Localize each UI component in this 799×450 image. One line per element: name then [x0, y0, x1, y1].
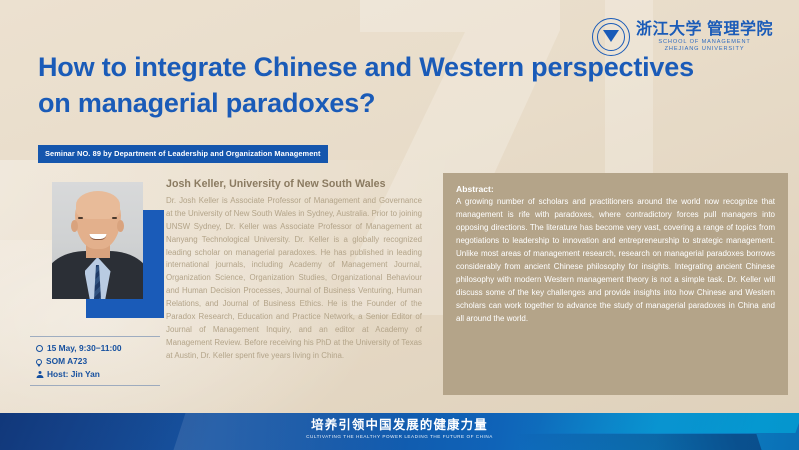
footer-slogan-english: CULTIVATING THE HEALTHY POWER LEADING TH… — [0, 434, 799, 439]
event-details: 15 May, 9:30−11:00 SOM A723 Host: Jin Ya… — [30, 336, 160, 386]
abstract-panel: Abstract: A growing number of scholars a… — [443, 173, 788, 395]
location-pin-icon — [36, 359, 42, 365]
detail-row-location: SOM A723 — [36, 355, 160, 368]
seminar-poster: 浙江大学 管理学院 SCHOOL OF MANAGEMENT ZHEJIANG … — [0, 0, 799, 450]
footer-slogan-chinese: 培养引领中国发展的健康力量 — [0, 418, 799, 432]
divider-bottom — [30, 385, 160, 386]
abstract-heading: Abstract: — [456, 184, 775, 194]
logo-english-school: SCHOOL OF MANAGEMENT — [636, 40, 773, 46]
seminar-badge: Seminar NO. 89 by Department of Leadersh… — [38, 145, 328, 163]
speaker-bio-text: Dr. Josh Keller is Associate Professor o… — [166, 195, 422, 362]
speaker-portrait — [52, 182, 148, 307]
speaker-photo — [52, 182, 143, 299]
seal-bird-icon — [603, 30, 619, 42]
abstract-body: A growing number of scholars and practit… — [456, 196, 775, 326]
detail-row-host: Host: Jin Yan — [36, 368, 160, 381]
detail-datetime-text: 15 May, 9:30−11:00 — [47, 342, 122, 355]
portrait-scalp — [76, 191, 120, 219]
footer-bar: 培养引领中国发展的健康力量 CULTIVATING THE HEALTHY PO… — [0, 413, 799, 450]
clock-icon — [36, 345, 43, 352]
portrait-ear-left — [71, 220, 78, 232]
speaker-bio-block: Josh Keller, University of New South Wal… — [166, 178, 422, 362]
person-icon — [36, 371, 43, 378]
logo-chinese-name: 浙江大学 管理学院 — [636, 22, 773, 38]
page-title: How to integrate Chinese and Western per… — [38, 50, 698, 122]
divider-top — [30, 336, 160, 337]
detail-host-text: Host: Jin Yan — [47, 368, 100, 381]
detail-row-datetime: 15 May, 9:30−11:00 — [36, 342, 160, 355]
speaker-name: Josh Keller, University of New South Wal… — [166, 178, 422, 190]
detail-location-text: SOM A723 — [46, 355, 87, 368]
portrait-ear-right — [117, 220, 124, 232]
